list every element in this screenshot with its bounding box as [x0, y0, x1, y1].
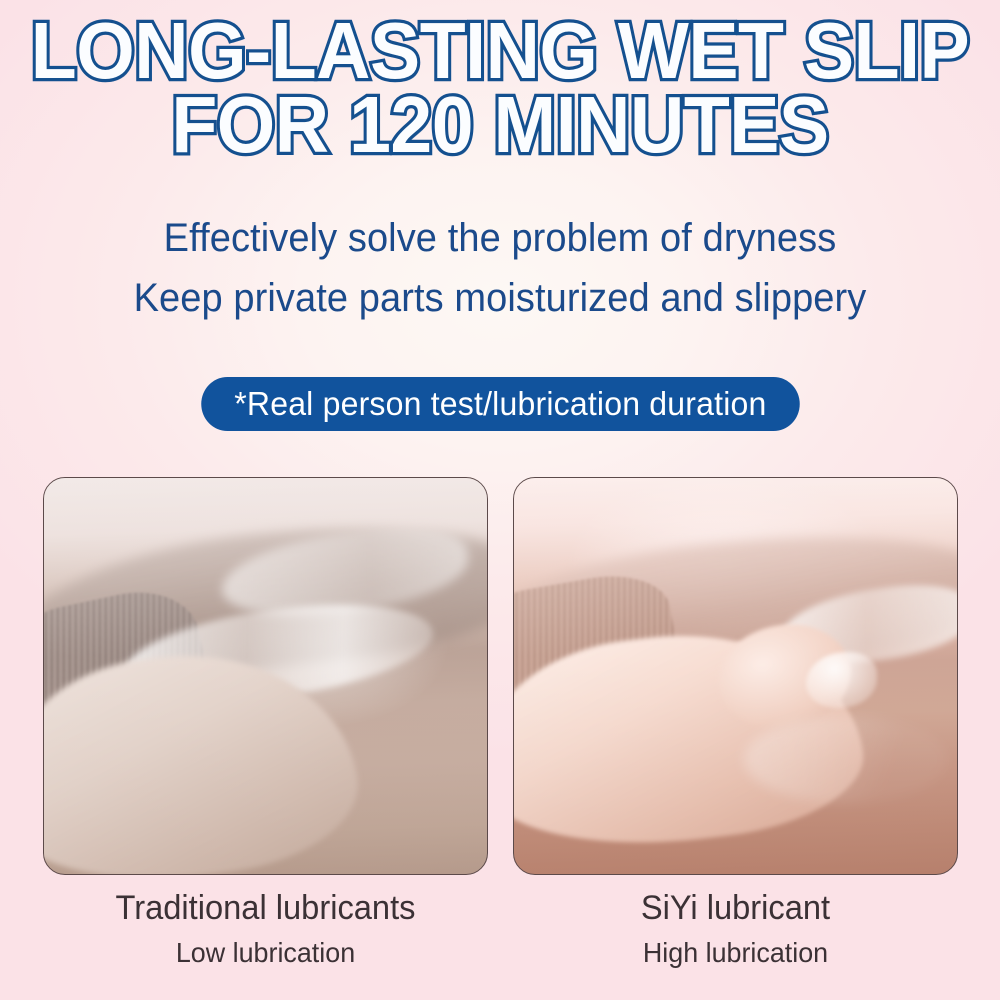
subtitle: Effectively solve the problem of dryness…: [0, 208, 1000, 328]
photo-warm-overlay: [514, 478, 957, 874]
headline: LONG-LASTING WET SLIP FOR 120 MINUTES: [0, 14, 1000, 161]
subtitle-line-2: Keep private parts moisturized and slipp…: [25, 268, 975, 328]
subtitle-line-1: Effectively solve the problem of dryness: [25, 208, 975, 268]
comparison-photos: [43, 477, 958, 875]
photo-desaturation-overlay: [44, 478, 487, 874]
badge-container: *Real person test/lubrication duration: [0, 377, 1000, 431]
caption-right-subtitle: High lubrication: [522, 931, 949, 975]
siyi-lubricant-photo: [513, 477, 958, 875]
real-person-test-badge: *Real person test/lubrication duration: [201, 377, 799, 431]
caption-left: Traditional lubricants Low lubrication: [43, 885, 488, 975]
caption-right: SiYi lubricant High lubrication: [513, 885, 958, 975]
promo-poster: LONG-LASTING WET SLIP FOR 120 MINUTES Ef…: [0, 0, 1000, 1000]
headline-line-1: LONG-LASTING WET SLIP: [30, 14, 970, 88]
caption-right-title: SiYi lubricant: [522, 885, 949, 931]
caption-left-title: Traditional lubricants: [52, 885, 479, 931]
traditional-lubricant-photo: [43, 477, 488, 875]
headline-line-2: FOR 120 MINUTES: [30, 88, 970, 162]
comparison-captions: Traditional lubricants Low lubrication S…: [43, 885, 958, 975]
caption-left-subtitle: Low lubrication: [52, 931, 479, 975]
